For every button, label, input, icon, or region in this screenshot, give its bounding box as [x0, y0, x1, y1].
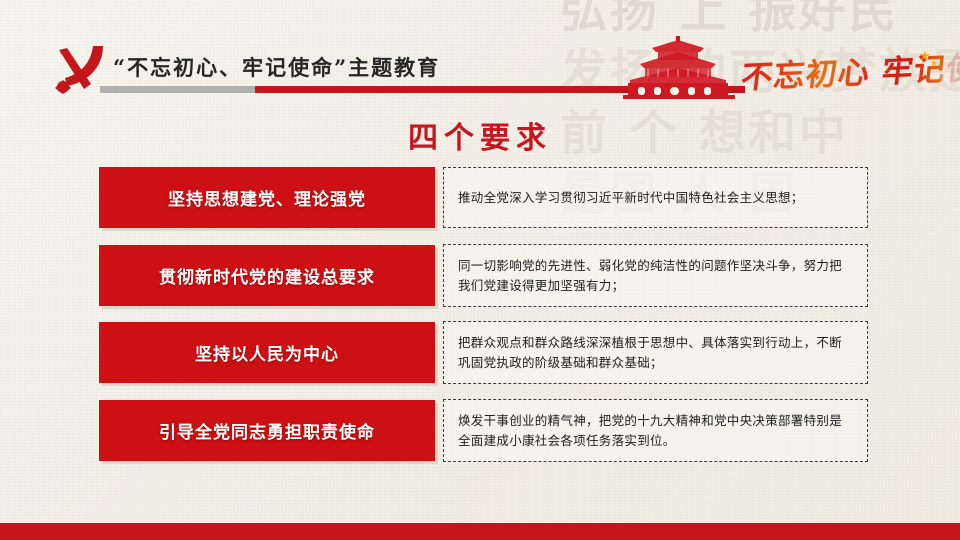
requirement-description-box: 焕发干事创业的精气神，把党的十九大精神和党中央决策部署特别是全面建成小康社会各项… — [443, 399, 868, 462]
requirement-description: 推动全党深入学习贯彻习近平新时代中国特色社会主义思想； — [458, 188, 804, 208]
requirements-list: 坚持思想建党、理论强党 推动全党深入学习贯彻习近平新时代中国特色社会主义思想； … — [0, 0, 960, 540]
requirement-row: 贯彻新时代党的建设总要求 同一切影响党的先进性、弱化党的纯洁性的问题作坚决斗争，… — [99, 245, 868, 306]
requirement-description-box: 推动全党深入学习贯彻习近平新时代中国特色社会主义思想； — [443, 167, 868, 228]
requirement-description: 焕发干事创业的精气神，把党的十九大精神和党中央决策部署特别是全面建成小康社会各项… — [458, 411, 853, 451]
requirement-label[interactable]: 贯彻新时代党的建设总要求 — [99, 245, 435, 306]
slide-root: 弘扬 上 振好民 发扬 的两兴梦族是 前 个 想和中 是国 人 国 “不忘初心、… — [0, 0, 960, 540]
requirement-label[interactable]: 坚持思想建党、理论强党 — [99, 167, 435, 228]
requirement-description-box: 把群众观点和群众路线深深植根于思想中、具体落实到行动上，不断巩固党执政的阶级基础… — [443, 321, 868, 384]
requirement-row: 坚持思想建党、理论强党 推动全党深入学习贯彻习近平新时代中国特色社会主义思想； — [99, 167, 868, 228]
requirement-row: 引导全党同志勇担职责使命 焕发干事创业的精气神，把党的十九大精神和党中央决策部署… — [99, 400, 868, 461]
footer-bar — [0, 523, 960, 540]
requirement-description-box: 同一切影响党的先进性、弱化党的纯洁性的问题作坚决斗争，努力把我们党建设得更加坚强… — [443, 244, 868, 307]
requirement-row: 坚持以人民为中心 把群众观点和群众路线深深植根于思想中、具体落实到行动上，不断巩… — [99, 322, 868, 383]
requirement-label[interactable]: 坚持以人民为中心 — [99, 322, 435, 383]
requirement-label[interactable]: 引导全党同志勇担职责使命 — [99, 400, 435, 461]
requirement-description: 同一切影响党的先进性、弱化党的纯洁性的问题作坚决斗争，努力把我们党建设得更加坚强… — [458, 256, 853, 296]
requirement-description: 把群众观点和群众路线深深植根于思想中、具体落实到行动上，不断巩固党执政的阶级基础… — [458, 333, 853, 373]
